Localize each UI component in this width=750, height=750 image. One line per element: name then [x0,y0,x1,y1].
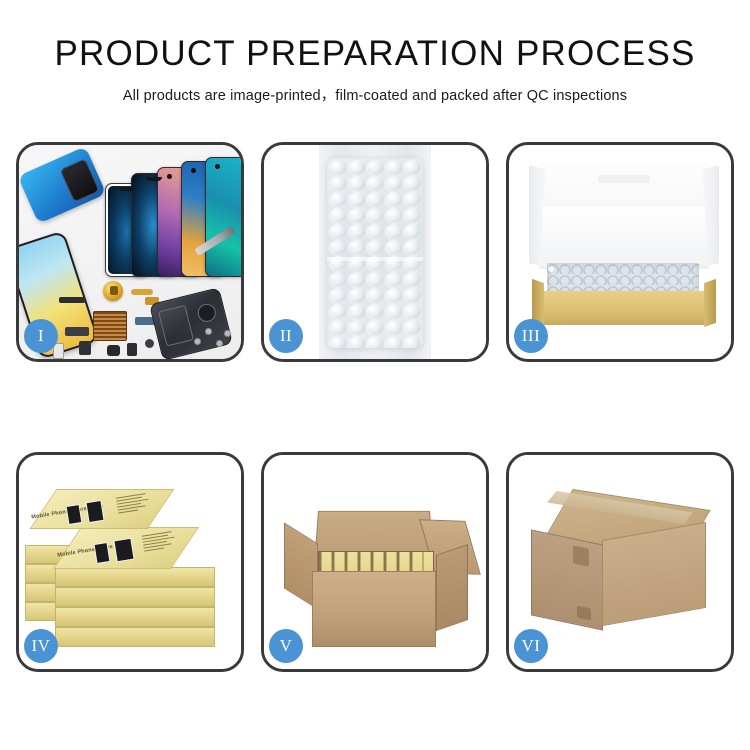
bubble-cell [348,320,366,336]
bubble-cell [403,336,421,348]
kraft-box-front [541,291,707,325]
phone-screen-lineup [105,159,241,277]
carton-right-panel [602,522,706,626]
small-part-icon [79,341,91,355]
bubble-cell [329,272,347,288]
stacked-box [55,587,215,607]
bubble-cell [329,224,347,240]
bubble-cell [348,192,366,208]
process-step-grid: I II III [16,142,734,672]
bubble-cell [385,224,403,240]
sensor-part-icon [127,343,137,356]
bubble-cell [366,288,384,304]
bubble-cell [366,336,384,348]
bubble-cell [366,208,384,224]
box-screen-graphic [113,538,134,563]
gold-connector-icon [131,289,153,295]
bubble-cell [329,208,347,224]
bubble-cell [329,192,347,208]
bubble-cell [385,304,403,320]
box-screen-graphic [66,504,83,525]
infographic-page: PRODUCT PREPARATION PROCESS All products… [0,0,750,750]
speaker-module-icon [103,281,123,301]
bubble-cell [366,224,384,240]
page-title: PRODUCT PREPARATION PROCESS [0,36,750,73]
bubble-cell [366,272,384,288]
bubble-cell [403,320,421,336]
stacked-box [55,627,215,647]
bubble-wrap-sheet [327,158,423,348]
phone-screen-teal [205,157,241,277]
bubble-cell [348,288,366,304]
bubble-cell [366,176,384,192]
bubble-cell [403,224,421,240]
bubble-cell [403,240,421,256]
bubble-cell [348,240,366,256]
bubble-cell [348,304,366,320]
step-panel-3: III [506,142,734,362]
button-part-icon [145,339,154,348]
bubble-cell [385,288,403,304]
bubble-cell [403,272,421,288]
carton-left-panel [531,529,603,630]
box-screen-graphic [85,500,104,523]
bubble-cell [329,336,347,348]
bubble-cell [348,160,366,176]
bubble-cell [403,160,421,176]
flex-cable-icon [59,297,85,303]
bubble-cell [403,176,421,192]
step-badge-6: VI [514,629,548,663]
bubble-cell [366,304,384,320]
step-panel-6: VI [506,452,734,672]
bubble-cell [329,320,347,336]
bubble-cell [403,208,421,224]
bubble-cell [403,192,421,208]
header: PRODUCT PREPARATION PROCESS All products… [0,0,750,105]
step-badge-3: III [514,319,548,353]
bubble-cell [385,240,403,256]
bubble-cell [348,272,366,288]
bubble-cell [329,288,347,304]
camera-module-icon [107,345,120,356]
bubble-cell [385,320,403,336]
stacked-box [55,567,215,587]
bubble-cell [385,192,403,208]
bubble-cell [366,192,384,208]
step-panel-5: V [261,452,489,672]
bubble-cell [348,208,366,224]
step-panel-2: II [261,142,489,362]
step-badge-5: V [269,629,303,663]
bubble-cell [385,208,403,224]
bubble-cell [403,304,421,320]
step-panel-4: Mobile Phone Spare Parts Mobile Phone Sp… [16,452,244,672]
box-screen-graphic [94,542,111,564]
stacked-box [55,607,215,627]
box-stack: Mobile Phone Spare Parts Mobile Phone Sp… [25,471,241,661]
bubble-cell [348,336,366,348]
bubble-cell [329,160,347,176]
bubble-cell [385,272,403,288]
bubble-cell [329,176,347,192]
carton-side-panel [436,544,468,631]
bubble-cell [348,224,366,240]
step-panel-1: I [16,142,244,362]
bubble-cell [329,240,347,256]
bubble-cell [385,160,403,176]
bubble-wrap-seam [327,257,423,261]
white-foam-liner [543,207,705,265]
flex-connector-icon [65,327,89,336]
blue-phone-shell-icon [19,146,106,224]
step-badge-1: I [24,319,58,353]
bubble-cell [348,176,366,192]
bubble-cell [385,176,403,192]
carton-front-panel [312,571,436,647]
open-carton [286,493,470,651]
bubble-cell [366,160,384,176]
step-badge-4: IV [24,629,58,663]
step-badge-2: II [269,319,303,353]
screws-group-icon [193,325,233,351]
bubble-cell [366,320,384,336]
sealed-carton [529,489,721,649]
page-subtitle: All products are image-printed，film-coat… [0,84,750,105]
bubble-cell [403,288,421,304]
bubble-cell [366,240,384,256]
chip-grid-icon [93,311,127,341]
carton-handle-notch [573,545,589,566]
bubble-cell [385,336,403,348]
bubble-cell [329,304,347,320]
